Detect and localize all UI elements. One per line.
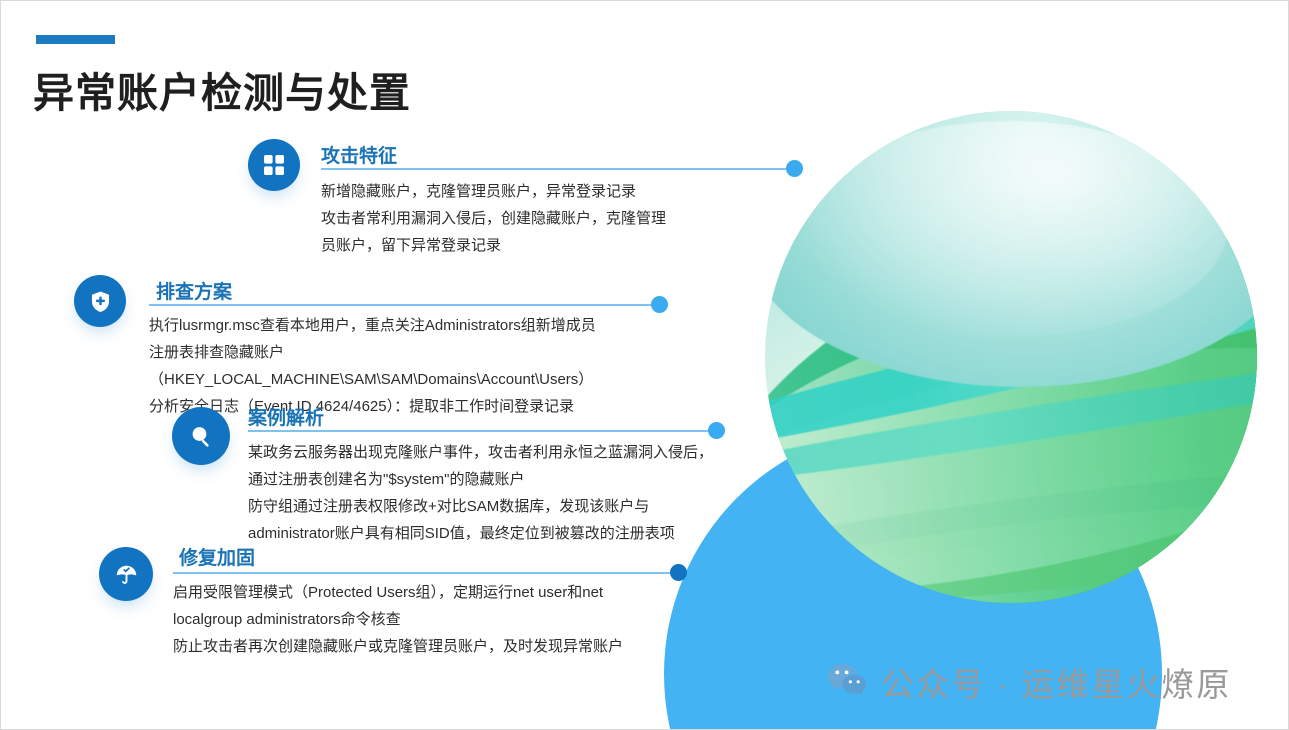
slide-canvas: 异常账户检测与处置 攻击特征 新增隐藏账户，克隆管理员账户，异常登录记录 攻击者… (0, 0, 1289, 730)
wechat-icon (827, 663, 867, 702)
section-endpoint-dot (651, 296, 668, 313)
section-rule (173, 572, 678, 574)
section-body: 启用受限管理模式（Protected Users组），定期运行net user和… (173, 579, 773, 660)
section-endpoint-dot (708, 422, 725, 439)
grid-icon (248, 139, 300, 191)
section-rule (321, 168, 791, 170)
title-accent-bar (36, 35, 115, 44)
section-heading: 排查方案 (156, 277, 232, 304)
section-rule (248, 430, 711, 432)
umbrella-check-icon (99, 547, 153, 601)
section-heading: 攻击特征 (321, 141, 397, 168)
section-heading: 修复加固 (179, 543, 255, 570)
section-body: 新增隐藏账户，克隆管理员账户，异常登录记录 攻击者常利用漏洞入侵后，创建隐藏账户… (321, 178, 881, 259)
section-endpoint-dot (786, 160, 803, 177)
section-body: 执行lusrmgr.msc查看本地用户，重点关注Administrators组新… (149, 312, 749, 420)
section-rule (149, 304, 654, 306)
section-body: 某政务云服务器出现克隆账户事件，攻击者利用永恒之蓝漏洞入侵后， 通过注册表创建名… (248, 439, 848, 547)
section-heading: 案例解析 (248, 403, 324, 430)
watermark-text: 公众号 · 运维星火燎原 (881, 658, 1231, 706)
shield-plus-icon (74, 275, 126, 327)
page-title: 异常账户检测与处置 (33, 59, 411, 119)
magnifier-icon (172, 407, 230, 465)
watermark: 公众号 · 运维星火燎原 (827, 658, 1231, 706)
